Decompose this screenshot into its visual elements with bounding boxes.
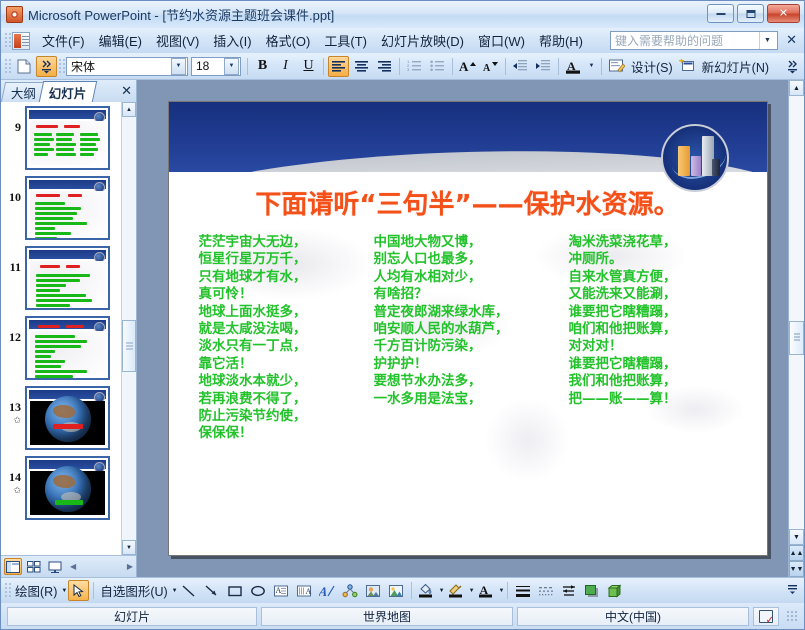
divider xyxy=(601,58,602,75)
menu-file[interactable]: 文件(F) xyxy=(35,28,92,53)
status-language[interactable]: 中文(中国) xyxy=(517,607,749,626)
align-right-button[interactable] xyxy=(374,56,395,77)
scroll-thumb[interactable] xyxy=(789,321,804,355)
3d-style-icon[interactable] xyxy=(604,580,625,601)
line-icon[interactable] xyxy=(179,580,200,601)
text-line: 一水多用是法宝， xyxy=(374,391,559,408)
text-line: 真可怜！ xyxy=(199,286,364,303)
menu-window[interactable]: 窗口(W) xyxy=(471,28,532,53)
divider xyxy=(93,582,94,599)
text-line: 人均有水相对少， xyxy=(374,269,559,286)
text-line: 我们和他把账算， xyxy=(569,373,745,390)
divider xyxy=(505,58,506,75)
chevron-down-icon[interactable]: ▼ xyxy=(759,32,775,49)
font-size-value: 18 xyxy=(192,59,223,73)
decrease-font-size-button[interactable]: A xyxy=(480,56,501,77)
vertical-textbox-icon[interactable]: A xyxy=(294,580,315,601)
line-style-icon[interactable] xyxy=(512,580,533,601)
text-line: 把——账——算！ xyxy=(569,391,745,408)
italic-glyph: I xyxy=(283,58,288,74)
oval-icon[interactable] xyxy=(248,580,269,601)
fill-color-icon[interactable] xyxy=(416,580,437,601)
text-line: 保保保！ xyxy=(199,425,364,442)
italic-button[interactable]: I xyxy=(275,56,296,77)
svg-text:A: A xyxy=(483,63,491,73)
window-title: Microsoft PowerPoint - [节约水资源主题班会课件.ppt] xyxy=(28,5,334,24)
draw-menu-button[interactable]: 绘图(R) xyxy=(12,581,60,600)
next-slide-icon[interactable]: ▼▼ xyxy=(789,561,804,577)
spellcheck-icon[interactable] xyxy=(753,607,779,626)
menu-edit[interactable]: 编辑(E) xyxy=(92,28,149,53)
normal-view-button[interactable] xyxy=(4,558,22,575)
divider xyxy=(399,58,400,75)
bold-glyph: B xyxy=(258,58,267,74)
picture-icon[interactable] xyxy=(386,580,407,601)
select-arrow-icon[interactable] xyxy=(68,580,89,601)
svg-text:A: A xyxy=(459,59,469,73)
svg-text:A: A xyxy=(306,587,312,596)
slide-sorter-button[interactable] xyxy=(25,558,43,575)
align-center-button[interactable] xyxy=(351,56,372,77)
text-line: 咱安顺人民的水葫芦， xyxy=(374,321,559,338)
drawbar-grip[interactable] xyxy=(4,582,11,599)
bulleted-list-button[interactable] xyxy=(427,56,448,77)
menu-insert[interactable]: 插入(I) xyxy=(206,28,258,53)
new-slide-icon[interactable] xyxy=(677,56,698,77)
slide-canvas[interactable]: 下面请听“三句半”——保护水资源。 茫茫宇宙大无边， 恒星行星万万千， 只有地球… xyxy=(137,80,788,577)
scroll-down-icon[interactable]: ▼ xyxy=(122,540,136,555)
text-line: 地球上面水挺多， xyxy=(199,304,364,321)
ask-a-question-input[interactable] xyxy=(611,33,759,48)
text-line: 护护护！ xyxy=(374,356,559,373)
rectangle-icon[interactable] xyxy=(225,580,246,601)
chevron-down-icon[interactable]: ▼ xyxy=(171,58,186,75)
font-name-combo[interactable]: 宋体 ▼ xyxy=(66,57,188,76)
window-controls: ✕ xyxy=(707,4,800,23)
minimize-button[interactable] xyxy=(707,4,734,23)
slide-editor-pane: 下面请听“三句半”——保护水资源。 茫茫宇宙大无边， 恒星行星万万千， 只有地球… xyxy=(137,80,804,577)
menu-view[interactable]: 视图(V) xyxy=(149,28,206,53)
ask-a-question-box[interactable]: ▼ xyxy=(610,31,778,50)
drawing-toolbar: 绘图(R) ▼ 自选图形(U) ▼ A A A xyxy=(1,577,804,603)
toolbar-options-icon-2[interactable] xyxy=(782,56,803,77)
text-line: 淡水只有一丁点， xyxy=(199,338,364,355)
text-line: 又能洗来又能涮， xyxy=(569,286,745,303)
text-line: 恒星行星万万千， xyxy=(199,251,364,268)
divider xyxy=(452,58,453,75)
divider xyxy=(558,58,559,75)
list-item[interactable]: 13 ✩ xyxy=(1,386,121,450)
pane-tabs: 大纲 幻灯片 ✕ xyxy=(1,80,136,102)
text-line: 中国地大物又博， xyxy=(374,234,559,251)
chevron-down-icon[interactable]: ▼ xyxy=(172,588,178,594)
powerpoint-window: Microsoft PowerPoint - [节约水资源主题班会课件.ppt]… xyxy=(0,0,805,630)
slide-number: 9 xyxy=(3,106,25,135)
menu-grip[interactable] xyxy=(4,32,11,49)
text-line: 地球淡水本就少， xyxy=(199,373,364,390)
font-size-combo[interactable]: 18 ▼ xyxy=(191,57,241,76)
scroll-up-icon[interactable]: ▲ xyxy=(789,80,804,96)
design-icon[interactable] xyxy=(606,56,627,77)
divider xyxy=(507,582,508,599)
text-line: 冲厕所。 xyxy=(569,251,745,268)
slide-number: 13 ✩ xyxy=(3,386,25,426)
tab-outline-label: 大纲 xyxy=(11,83,36,102)
view-buttons: ◀ ▶ xyxy=(1,555,136,577)
list-item[interactable]: 9 xyxy=(1,106,121,170)
toolbar-grip-1[interactable] xyxy=(4,58,11,75)
toolbar-grip-2[interactable] xyxy=(58,58,65,75)
maximize-button[interactable] xyxy=(737,4,764,23)
numbered-list-button[interactable]: 123 xyxy=(404,56,425,77)
font-name-value: 宋体 xyxy=(67,58,170,75)
text-line: 靠它活！ xyxy=(199,356,364,373)
underline-button[interactable]: U xyxy=(298,56,319,77)
earth-image xyxy=(45,466,91,512)
menu-slideshow[interactable]: 幻灯片放映(D) xyxy=(374,28,471,53)
design-button[interactable]: 设计(S) xyxy=(628,57,676,76)
scroll-track[interactable] xyxy=(122,117,136,540)
horizontal-scroll-mini[interactable]: ◀ ▶ xyxy=(67,562,136,571)
arrow-style-icon[interactable] xyxy=(558,580,579,601)
slides-pane: 大纲 幻灯片 ✕ 9 xyxy=(1,80,137,577)
chevron-down-icon[interactable]: ▼ xyxy=(469,588,475,594)
text-line: 对对对！ xyxy=(569,338,745,355)
font-color-icon[interactable]: A xyxy=(476,580,497,601)
title-bar: Microsoft PowerPoint - [节约水资源主题班会课件.ppt]… xyxy=(1,1,804,28)
chevron-down-icon[interactable]: ▼ xyxy=(61,588,67,594)
chevron-down-icon[interactable]: ▼ xyxy=(224,58,239,75)
text-column-2[interactable]: 中国地大物又博， 别忘人口也最多， 人均有水相对少， 有啥招？ 普定夜郎湖来绿水… xyxy=(374,234,559,547)
dash-style-icon[interactable] xyxy=(535,580,556,601)
tab-slides[interactable]: 幻灯片 xyxy=(39,81,97,102)
divider xyxy=(411,582,412,599)
menu-format[interactable]: 格式(O) xyxy=(259,28,318,53)
divider xyxy=(323,58,324,75)
toolbar-options-icon[interactable] xyxy=(36,56,57,77)
text-column-3[interactable]: 淘米洗菜浇花草， 冲厕所。 自来水管真方便， 又能洗来又能涮， 谁要把它瞎糟蹋，… xyxy=(569,234,745,547)
increase-indent-button[interactable] xyxy=(533,56,554,77)
text-line: 淘米洗菜浇花草， xyxy=(569,234,745,251)
increase-font-size-button[interactable]: A xyxy=(457,56,478,77)
scroll-right-icon[interactable]: ▶ xyxy=(127,562,133,571)
bold-button[interactable]: B xyxy=(252,56,273,77)
slide-thumbnail[interactable] xyxy=(25,456,110,520)
slideshow-view-button[interactable] xyxy=(46,558,64,575)
line-color-icon[interactable] xyxy=(446,580,467,601)
text-line: 普定夜郎湖来绿水库， xyxy=(374,304,559,321)
thumbnail-area: 9 xyxy=(1,102,136,555)
slide-number: 14 ✩ xyxy=(3,456,25,496)
slide-thumbnail[interactable] xyxy=(25,386,110,450)
slide-number: 12 xyxy=(3,316,25,345)
slide-thumbnail[interactable] xyxy=(25,106,110,170)
svg-text:A: A xyxy=(276,586,282,595)
font-color-button[interactable]: A xyxy=(563,56,584,77)
text-line: 要想节水办法多， xyxy=(374,373,559,390)
text-column-1[interactable]: 茫茫宇宙大无边， 恒星行星万万千， 只有地球才有水， 真可怜！ 地球上面水挺多，… xyxy=(199,234,364,547)
divider xyxy=(247,58,248,75)
text-line: 有啥招？ xyxy=(374,286,559,303)
decrease-indent-button[interactable] xyxy=(510,56,531,77)
text-line: 别忘人口也最多， xyxy=(374,251,559,268)
slide-number-label: 13 xyxy=(9,400,21,414)
slide-thumbnail[interactable] xyxy=(25,176,110,240)
animation-star-icon: ✩ xyxy=(3,485,21,496)
animation-star-icon: ✩ xyxy=(3,415,21,426)
document-icon xyxy=(12,32,30,50)
wordart-icon[interactable]: A xyxy=(317,580,338,601)
svg-text:A: A xyxy=(319,584,329,598)
current-slide[interactable]: 下面请听“三句半”——保护水资源。 茫茫宇宙大无边， 恒星行星万万千， 只有地球… xyxy=(168,101,768,556)
scroll-down-icon[interactable]: ▼ xyxy=(789,529,804,545)
slide-logo-icon xyxy=(661,124,729,192)
list-item[interactable]: 14 ✩ xyxy=(1,456,121,520)
new-document-icon[interactable] xyxy=(13,56,34,77)
chevron-down-icon[interactable]: ▼ xyxy=(439,588,445,594)
slide-vertical-scrollbar[interactable]: ▲ ▼ ▲▲ ▼▼ xyxy=(788,80,804,577)
slide-thumbnail[interactable] xyxy=(25,246,110,310)
slide-title[interactable]: 下面请听“三句半”——保护水资源。 xyxy=(169,184,767,221)
slide-body: 茫茫宇宙大无边， 恒星行星万万千， 只有地球才有水， 真可怜！ 地球上面水挺多，… xyxy=(199,234,745,547)
new-slide-button[interactable]: 新幻灯片(N) xyxy=(699,57,772,76)
menu-help[interactable]: 帮助(H) xyxy=(532,28,590,53)
slide-thumbnail[interactable] xyxy=(25,316,110,380)
text-line: 茫茫宇宙大无边， xyxy=(199,234,364,251)
menu-bar: 文件(F) 编辑(E) 视图(V) 插入(I) 格式(O) 工具(T) 幻灯片放… xyxy=(1,28,804,53)
text-line: 谁要把它瞎糟蹋， xyxy=(569,304,745,321)
list-item[interactable]: 12 xyxy=(1,316,121,380)
textbox-icon[interactable]: A xyxy=(271,580,292,601)
text-line: 就是太咸没法喝， xyxy=(199,321,364,338)
autoshapes-menu-button[interactable]: 自选图形(U) xyxy=(97,581,170,600)
text-line: 千方百计防污染， xyxy=(374,338,559,355)
scroll-thumb[interactable] xyxy=(122,320,136,372)
slide-number-label: 14 xyxy=(9,470,21,484)
svg-text:3: 3 xyxy=(407,67,410,72)
align-left-button[interactable] xyxy=(328,56,349,77)
text-line: 自来水管真方便， xyxy=(569,269,745,286)
diagram-icon[interactable] xyxy=(340,580,361,601)
slide-number: 11 xyxy=(3,246,25,275)
status-design: 世界地图 xyxy=(261,607,513,626)
text-line: 谁要把它瞎糟蹋， xyxy=(569,356,745,373)
thumbnail-list[interactable]: 9 xyxy=(1,102,121,555)
arrow-icon[interactable] xyxy=(202,580,223,601)
text-line: 只有地球才有水， xyxy=(199,269,364,286)
work-area: 大纲 幻灯片 ✕ 9 xyxy=(1,80,804,577)
scroll-left-icon[interactable]: ◀ xyxy=(70,562,76,571)
earth-image xyxy=(45,396,91,442)
drawbar-options-icon[interactable] xyxy=(782,580,803,601)
clipart-icon[interactable] xyxy=(363,580,384,601)
close-window-x-icon[interactable]: ✕ xyxy=(786,32,797,48)
previous-slide-icon[interactable]: ▲▲ xyxy=(789,545,804,561)
chevron-down-icon[interactable]: ▼ xyxy=(499,588,505,594)
menu-tools[interactable]: 工具(T) xyxy=(317,28,374,53)
thumbnail-scrollbar[interactable]: ▲ ▼ xyxy=(121,102,136,555)
text-line: 咱们和他把账算， xyxy=(569,321,745,338)
status-bar: 幻灯片 世界地图 中文(中国) xyxy=(1,603,804,629)
list-item[interactable]: 11 xyxy=(1,246,121,310)
status-view: 幻灯片 xyxy=(7,607,257,626)
text-line: 若再浪费不得了， xyxy=(199,391,364,408)
tab-slides-label: 幻灯片 xyxy=(49,83,87,102)
close-button[interactable]: ✕ xyxy=(767,4,800,23)
underline-glyph: U xyxy=(303,58,313,74)
resize-grip[interactable] xyxy=(786,610,798,622)
scroll-up-icon[interactable]: ▲ xyxy=(122,102,136,117)
font-color-dropdown[interactable]: ▼ xyxy=(586,56,597,77)
slide-number: 10 xyxy=(3,176,25,205)
formatting-toolbar: 宋体 ▼ 18 ▼ B I U xyxy=(1,53,804,80)
close-pane-icon[interactable]: ✕ xyxy=(121,83,132,99)
list-item[interactable]: 10 xyxy=(1,176,121,240)
shadow-style-icon[interactable] xyxy=(581,580,602,601)
text-line: 防止污染节约使， xyxy=(199,408,364,425)
scroll-track[interactable] xyxy=(789,96,804,529)
powerpoint-icon xyxy=(6,6,23,23)
